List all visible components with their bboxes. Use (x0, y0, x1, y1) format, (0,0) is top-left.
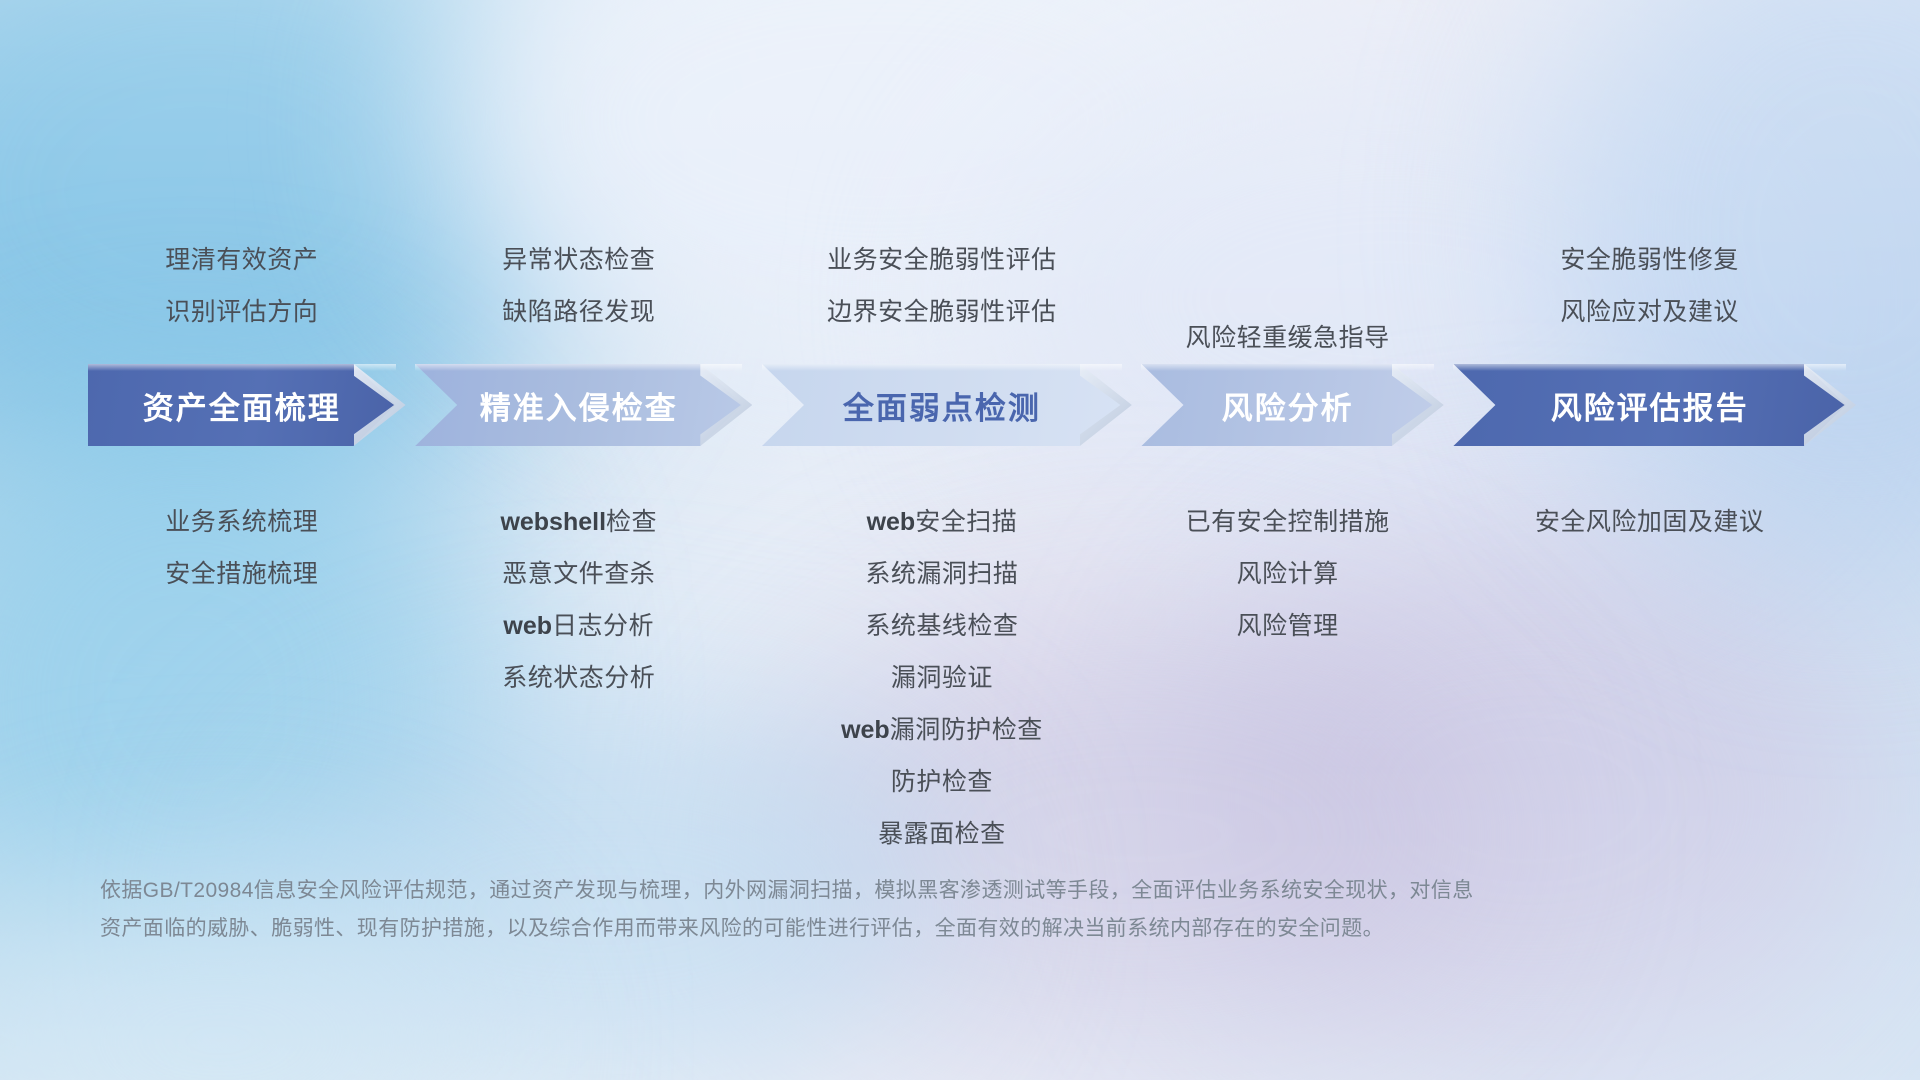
footer-line-2: 资产面临的威胁、脆弱性、现有防护措施，以及综合作用而带来风险的可能性进行评估，全… (100, 910, 1660, 948)
top-label-item: 风险应对及建议 (1560, 286, 1739, 338)
bottom-label-prefix: web (841, 716, 890, 744)
top-label-item: 风险轻重缓急指导 (1186, 312, 1390, 364)
stage-arrow-1[interactable]: 资产全面梳理 (88, 364, 396, 446)
bottom-label-item: 安全风险加固及建议 (1535, 496, 1765, 548)
stage-title: 风险评估报告 (1551, 383, 1749, 428)
process-diagram: 理清有效资产识别评估方向异常状态检查缺陷路径发现业务安全脆弱性评估边界安全脆弱性… (0, 0, 1920, 1080)
bottom-label-item: 已有安全控制措施 (1186, 496, 1390, 548)
bottom-label-item: web安全扫描 (867, 496, 1018, 548)
top-label-item: 缺陷路径发现 (502, 286, 655, 338)
bottom-label-item: 安全措施梳理 (165, 548, 318, 600)
top-label-item: 安全脆弱性修复 (1560, 234, 1739, 286)
top-label-item: 边界安全脆弱性评估 (827, 286, 1057, 338)
bottom-label-item: web日志分析 (503, 600, 654, 652)
bottom-label-item: 恶意文件查杀 (502, 548, 655, 600)
stage-arrow-band: 资产全面梳理精准入侵检查全面弱点检测风险分析风险评估报告 (88, 364, 1846, 446)
bottom-labels-row: 业务系统梳理安全措施梳理webshell检查恶意文件查杀web日志分析系统状态分… (0, 496, 1920, 896)
bottom-label-item: 暴露面检查 (878, 808, 1006, 860)
bottom-label-prefix: web (503, 612, 552, 640)
footer-description: 依据GB/T20984信息安全风险评估规范，通过资产发现与梳理，内外网漏洞扫描，… (100, 872, 1660, 948)
bottom-label-item: 系统漏洞扫描 (865, 548, 1018, 600)
bottom-label-item: 系统状态分析 (502, 652, 655, 704)
stage-arrow-5[interactable]: 风险评估报告 (1453, 364, 1846, 446)
bottom-label-item: 系统基线检查 (865, 600, 1018, 652)
bottom-label-prefix: web (867, 508, 916, 536)
bottom-label-prefix: webshell (500, 508, 606, 536)
top-label-item: 异常状态检查 (502, 234, 655, 286)
top-label-column-5: 安全脆弱性修复风险应对及建议 (1430, 234, 1870, 338)
top-label-item: 识别评估方向 (165, 286, 318, 338)
stage-arrow-4[interactable]: 风险分析 (1141, 364, 1433, 446)
stage-title: 资产全面梳理 (143, 383, 341, 428)
bottom-label-item: 防护检查 (891, 756, 993, 808)
bottom-label-column-5: 安全风险加固及建议 (1430, 496, 1870, 548)
stage-title: 精准入侵检查 (480, 383, 678, 428)
footer-line-1: 依据GB/T20984信息安全风险评估规范，通过资产发现与梳理，内外网漏洞扫描，… (100, 872, 1660, 910)
stage-arrow-3[interactable]: 全面弱点检测 (762, 364, 1122, 446)
top-label-item: 业务安全脆弱性评估 (827, 234, 1057, 286)
bottom-label-item: 风险计算 (1237, 548, 1339, 600)
bottom-label-item: 业务系统梳理 (165, 496, 318, 548)
bottom-label-item: web漏洞防护检查 (841, 704, 1043, 756)
top-labels-row: 理清有效资产识别评估方向异常状态检查缺陷路径发现业务安全脆弱性评估边界安全脆弱性… (0, 228, 1920, 338)
top-label-item: 理清有效资产 (165, 234, 318, 286)
bottom-label-item: webshell检查 (500, 496, 657, 548)
stage-arrow-2[interactable]: 精准入侵检查 (415, 364, 742, 446)
bottom-label-item: 风险管理 (1237, 600, 1339, 652)
stage-title: 风险分析 (1222, 383, 1354, 428)
bottom-label-item: 漏洞验证 (891, 652, 993, 704)
stage-title: 全面弱点检测 (843, 383, 1041, 428)
